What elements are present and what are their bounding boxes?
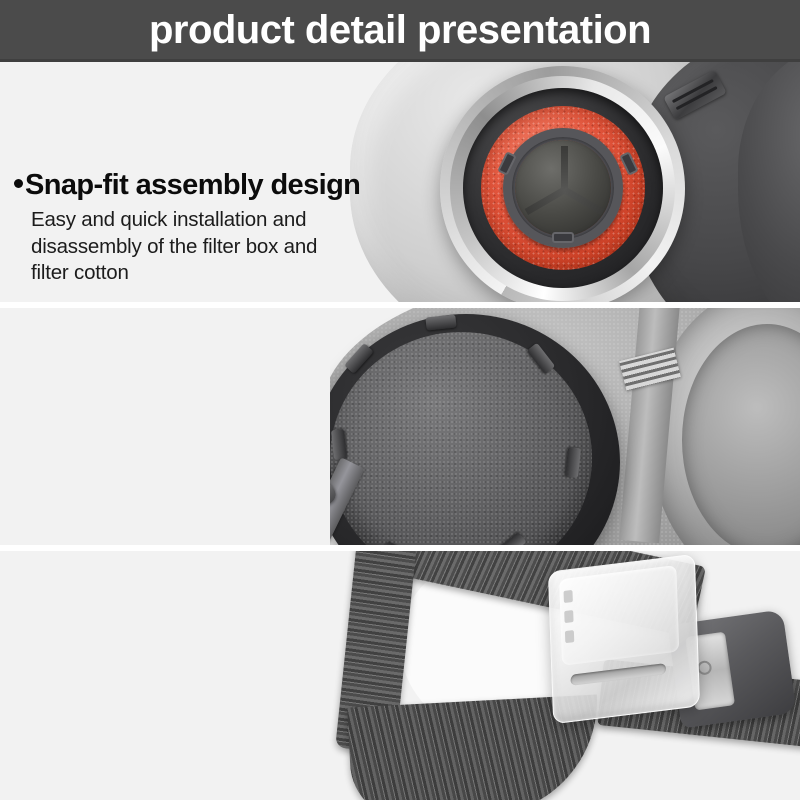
adjustable-buckle	[548, 554, 700, 725]
feature-panel-headband: Ambidextrous headband Adjustable buckle …	[0, 551, 800, 800]
feature-heading: Snap-fit assembly design	[14, 170, 484, 200]
bayonet-tab	[552, 232, 574, 243]
strap-hook	[330, 458, 396, 545]
bullet-dot-icon	[14, 179, 23, 188]
strap-hook-arm	[330, 457, 365, 545]
center-spoke	[561, 146, 568, 190]
feature-panel-cold-flow-valve: cold flow respirator valve Exhaust hot a…	[0, 308, 800, 545]
feature-heading-label: Snap-fit assembly design	[25, 170, 360, 200]
page-title: product detail presentation	[149, 10, 651, 52]
feature-body: Easy and quick installation and disassem…	[31, 207, 484, 286]
product-detail-page: product detail presentation Snap-f	[0, 0, 800, 800]
feature-panel-snap-fit: Snap-fit assembly design Easy and quick …	[0, 62, 800, 302]
exhaust-valve-photo	[330, 308, 800, 545]
buckle-notch	[565, 630, 574, 643]
headband-photo	[300, 551, 800, 800]
header-bar: product detail presentation	[0, 0, 800, 62]
feature-text-snap-fit: Snap-fit assembly design Easy and quick …	[14, 170, 484, 286]
buckle-slot	[570, 663, 666, 686]
buckle-face	[559, 565, 679, 666]
buckle-notch	[564, 610, 573, 623]
buckle-notch	[564, 590, 573, 603]
